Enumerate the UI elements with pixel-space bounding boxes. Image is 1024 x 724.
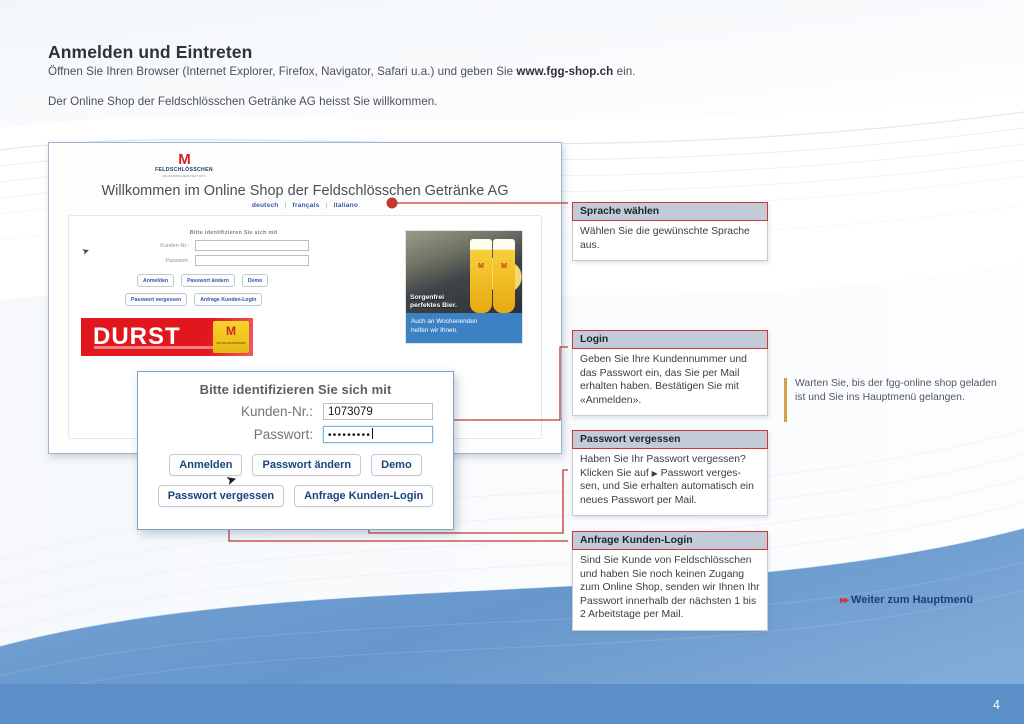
zoom-form-heading: Bitte identifizieren Sie sich mit [138, 382, 453, 397]
zoom-password-label: Passwort: [138, 427, 323, 442]
zoom-password-row: Passwort: ••••••••• [138, 426, 453, 443]
durst-banner[interactable]: DURST M FELDSCHLÖSSCHEN [81, 318, 253, 356]
mini-anfrage-kunden-login-button[interactable]: Anfrage Kunden-Login [194, 293, 262, 306]
promo-headline: Sorgenfrei perfektes Bier. [410, 294, 457, 310]
intro-url: www.fgg-shop.ch [516, 65, 613, 78]
zoom-password-input[interactable]: ••••••••• [323, 426, 433, 443]
callout-body-login: Geben Sie Ihre Kundennummer und das Pass… [573, 348, 767, 415]
callout-body-passwort-vergessen: Haben Sie Ihr Passwort vergessen? Klicke… [573, 448, 767, 515]
callout-title-passwort-vergessen: Passwort vergessen [572, 430, 768, 449]
mini-button-row-2: Passwort vergessen Anfrage Kunden-Login [125, 293, 342, 306]
callout-anfrage-kunden-login: Anfrage Kunden-Login Sind Sie Kunde von … [572, 531, 768, 631]
logo-wordmark: FELDSCHLÖSSCHEN [151, 167, 217, 173]
side-note-text: Warten Sie, bis der fgg-online shop gela… [795, 378, 997, 403]
callout-title-anfrage: Anfrage Kunden-Login [572, 531, 768, 550]
promo-subtext-bar: Auch an Wochenenden helfen wir Ihnen. [406, 313, 522, 343]
side-note-accent-bar [784, 378, 787, 422]
zoom-customer-label: Kunden-Nr.: [138, 404, 323, 419]
language-separator-2: | [325, 202, 327, 209]
shop-welcome-heading: Willkommen im Online Shop der Feldschlös… [49, 183, 561, 199]
demo-button[interactable]: Demo [371, 454, 422, 476]
text-caret [372, 428, 373, 439]
durst-banner-badge: M FELDSCHLÖSSCHEN [213, 321, 249, 353]
callout-login: Login Geben Sie Ihre Kundennummer und da… [572, 330, 768, 416]
feldschloesschen-logo: M FELDSCHLÖSSCHEN DIE BIERBRAUEREI SEIT … [151, 153, 217, 178]
mini-password-label: Passwort: [97, 258, 195, 264]
side-note: Warten Sie, bis der fgg-online shop gela… [784, 377, 1000, 404]
zoom-password-dots: ••••••••• [328, 430, 371, 441]
mouse-cursor-icon: ➤ [80, 245, 91, 258]
intro-prefix: Öffnen Sie Ihren Browser (Internet Explo… [48, 65, 516, 78]
mini-customer-input[interactable] [195, 240, 309, 251]
promo-subtext-line2: helfen wir Ihnen. [411, 326, 517, 335]
callout-body-sprache: Wählen Sie die gewünschte Sprache aus. [573, 220, 767, 260]
passwort-vergessen-button[interactable]: Passwort vergessen [158, 485, 284, 507]
double-arrow-icon: ▸▸ [840, 595, 848, 606]
logo-mark-icon: M [151, 153, 217, 166]
page-root: Anmelden und Eintreten Öffnen Sie Ihren … [0, 0, 1024, 724]
passwort-aendern-button[interactable]: Passwort ändern [252, 454, 361, 476]
zoom-customer-input[interactable]: 1073079 [323, 403, 433, 420]
promo-glass-mark-icon: M [478, 263, 484, 270]
mini-password-input[interactable] [195, 255, 309, 266]
callout-passwort-vergessen: Passwort vergessen Haben Sie Ihr Passwor… [572, 430, 768, 516]
anfrage-kunden-login-button[interactable]: Anfrage Kunden-Login [294, 485, 433, 507]
intro-paragraph-2: Der Online Shop der Feldschlösschen Getr… [48, 95, 438, 108]
zoomed-login-card: Bitte identifizieren Sie sich mit Kunden… [137, 371, 454, 530]
callout-sprache-waehlen: Sprache wählen Wählen Sie die gewünschte… [572, 202, 768, 261]
mini-customer-row: Kunden-Nr.: [97, 240, 342, 251]
zoom-button-row-1: Anmelden Passwort ändern Demo [138, 454, 453, 476]
language-separator-1: | [285, 202, 287, 209]
promo-headline-line2: perfektes Bier. [410, 302, 457, 310]
mini-demo-button[interactable]: Demo [242, 274, 268, 287]
zoom-customer-row: Kunden-Nr.: 1073079 [138, 403, 453, 420]
next-page-link-label: Weiter zum Hauptmenü [851, 594, 973, 606]
durst-badge-text: FELDSCHLÖSSCHEN [213, 341, 249, 345]
intro-paragraph: Öffnen Sie Ihren Browser (Internet Explo… [48, 65, 636, 78]
page-number: 4 [993, 698, 1000, 712]
durst-badge-mark-icon: M [213, 321, 249, 341]
page-title: Anmelden und Eintreten [48, 42, 252, 63]
mini-form-heading: Bitte identifizieren Sie sich mit [125, 230, 342, 236]
language-link-deutsch[interactable]: deutsch [252, 202, 279, 209]
callout-body-anfrage: Sind Sie Kunde von Feldschlösschen und h… [573, 549, 767, 630]
callout-title-login: Login [572, 330, 768, 349]
promo-glass-mark-icon-2: M [501, 263, 507, 270]
language-switcher: deutsch | français | italiano [49, 202, 561, 209]
mini-passwort-aendern-button[interactable]: Passwort ändern [181, 274, 235, 287]
next-page-link[interactable]: ▸▸Weiter zum Hauptmenü [840, 594, 973, 606]
language-link-francais[interactable]: français [293, 202, 320, 209]
mini-button-row-1: Anmelden Passwort ändern Demo [137, 274, 342, 287]
promo-subtext-line1: Auch an Wochenenden [411, 317, 517, 326]
language-link-italiano[interactable]: italiano [333, 202, 358, 209]
mini-passwort-vergessen-button[interactable]: Passwort vergessen [125, 293, 187, 306]
durst-banner-underline [94, 346, 214, 349]
mini-password-row: Passwort: [97, 255, 342, 266]
callout-title-sprache: Sprache wählen [572, 202, 768, 221]
promo-image[interactable]: M M Sorgenfrei perfektes Bier. Auch an W… [405, 230, 523, 344]
intro-suffix: ein. [613, 65, 635, 78]
mini-customer-label: Kunden-Nr.: [97, 243, 195, 249]
promo-headline-line1: Sorgenfrei [410, 294, 457, 302]
logo-tagline: DIE BIERBRAUEREI SEIT 1876 [151, 174, 217, 178]
promo-beer-glass-1: M [470, 239, 492, 313]
footer-bar [0, 684, 1024, 724]
promo-beer-glass-2: M [493, 239, 515, 313]
mini-login-form: Bitte identifizieren Sie sich mit Kunden… [97, 230, 342, 306]
zoom-button-row-2: Passwort vergessen Anfrage Kunden-Login [138, 485, 453, 507]
mini-anmelden-button[interactable]: Anmelden [137, 274, 174, 287]
